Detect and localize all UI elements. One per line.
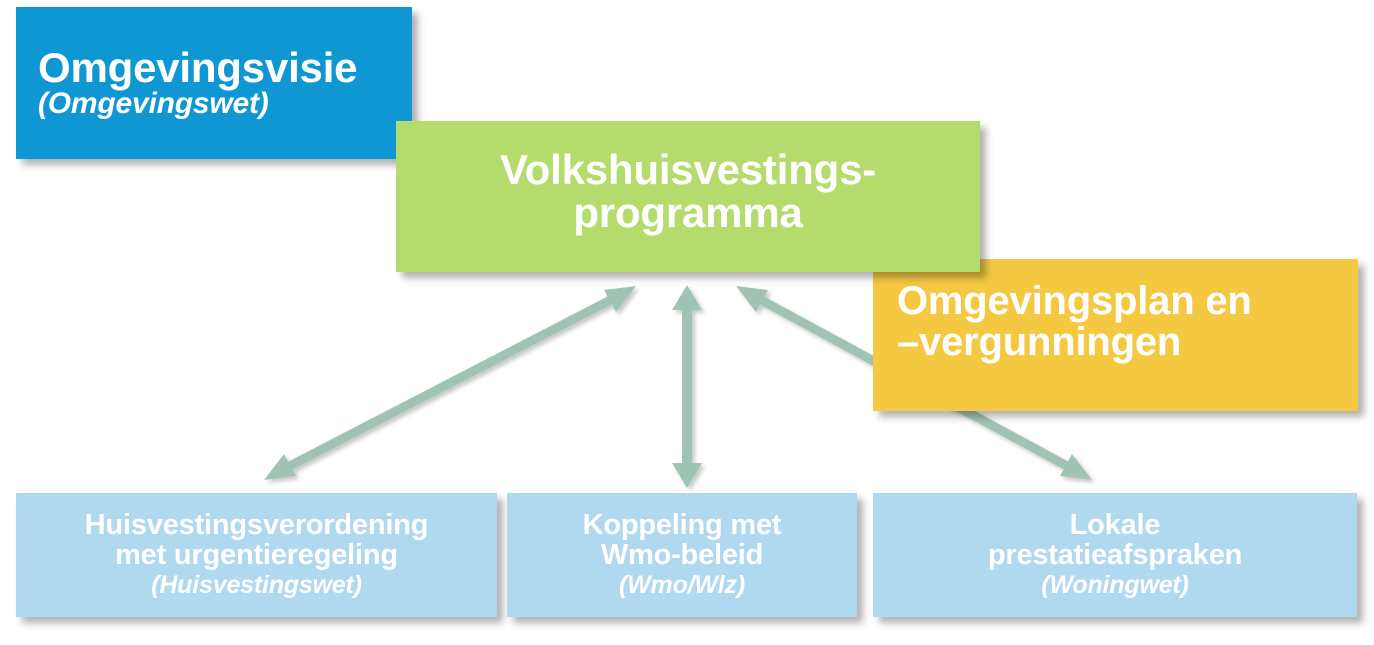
box-lokale-prestatieafspraken-subtitle: (Woningwet) [1041, 572, 1188, 598]
box-koppeling-wmo[interactable]: Koppeling met Wmo-beleid (Wmo/Wlz) [507, 493, 857, 617]
box-omgevingsplan-title-line1: Omgevingsplan en [897, 281, 1252, 322]
box-omgevingsvisie-subtitle: (Omgevingswet) [38, 88, 269, 120]
box-omgevingsplan[interactable]: Omgevingsplan en –vergunningen [873, 259, 1358, 411]
box-huisvestingsverordening-title-line1: Huisvestingsverordening [85, 511, 429, 541]
box-koppeling-wmo-title-line1: Koppeling met [583, 511, 782, 541]
box-lokale-prestatieafspraken-title-line2: prestatieafspraken [988, 541, 1242, 571]
box-huisvestingsverordening[interactable]: Huisvestingsverordening met urgentierege… [16, 493, 497, 617]
box-huisvestingsverordening-title-line2: met urgentieregeling [115, 541, 398, 571]
diagram-canvas: Omgevingsvisie (Omgevingswet) Volkshuisv… [0, 0, 1374, 645]
box-omgevingsvisie-title: Omgevingsvisie [38, 47, 357, 90]
box-volkshuisvestingsprogramma[interactable]: Volkshuisvestings- programma [396, 121, 980, 272]
box-omgevingsplan-title-line2: –vergunningen [897, 322, 1181, 363]
box-omgevingsvisie[interactable]: Omgevingsvisie (Omgevingswet) [16, 7, 412, 159]
box-huisvestingsverordening-subtitle: (Huisvestingswet) [151, 572, 362, 598]
box-lokale-prestatieafspraken[interactable]: Lokale prestatieafspraken (Woningwet) [873, 493, 1357, 617]
arrow-program-to-huisvestingsverordening [264, 286, 636, 480]
box-koppeling-wmo-subtitle: (Wmo/Wlz) [619, 572, 745, 598]
box-volkshuisvestingsprogramma-title-line2: programma [573, 192, 802, 235]
box-lokale-prestatieafspraken-title-line1: Lokale [1070, 511, 1161, 541]
box-koppeling-wmo-title-line2: Wmo-beleid [601, 541, 763, 571]
arrow-program-to-koppeling-wmo [672, 285, 702, 488]
box-volkshuisvestingsprogramma-title-line1: Volkshuisvestings- [500, 149, 876, 192]
